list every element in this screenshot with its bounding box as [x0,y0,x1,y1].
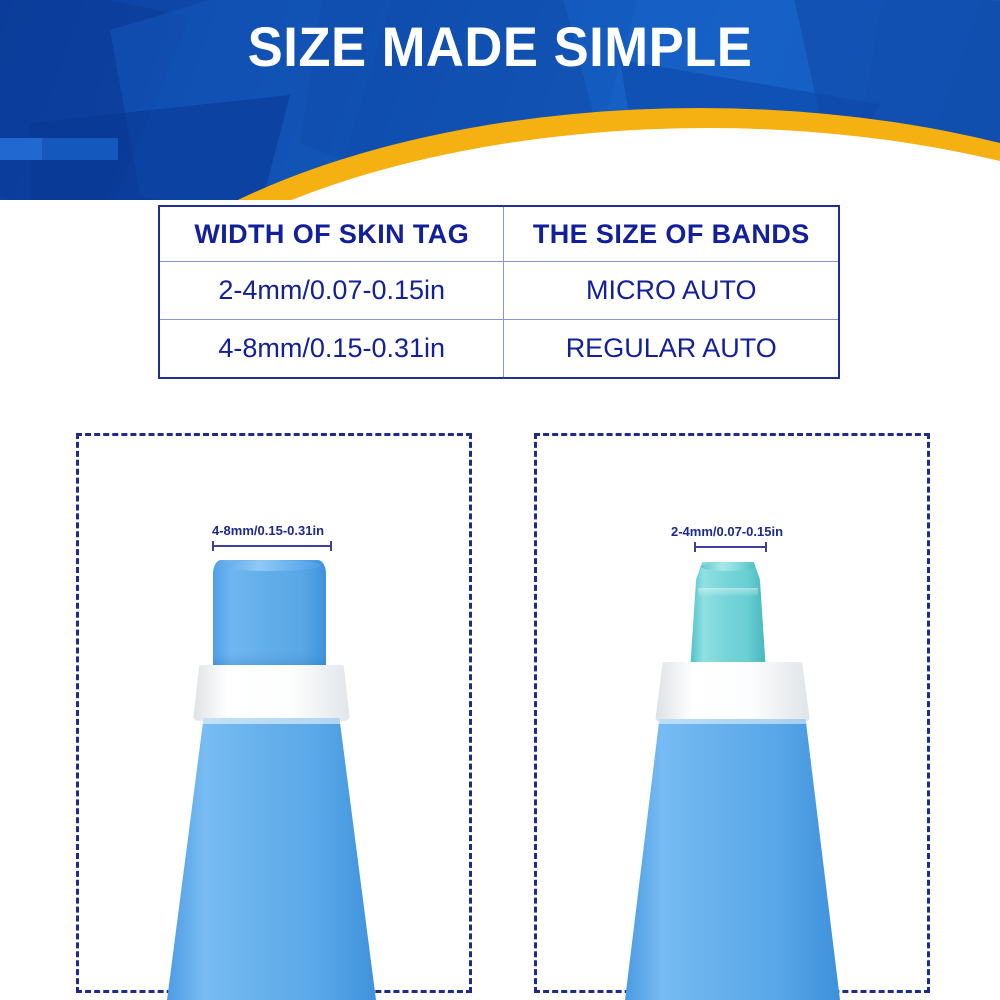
device-collar-micro [655,662,810,722]
device-collar-regular [193,665,350,721]
dimension-label-micro: 2-4mm/0.07-0.15in [671,524,783,539]
column-header-width: WIDTH OF SKIN TAG [159,206,504,262]
dimension-line-regular [212,541,332,551]
size-chart-table: WIDTH OF SKIN TAG THE SIZE OF BANDS 2-4m… [158,205,840,379]
cell-width-regular: 4-8mm/0.15-0.31in [159,320,504,379]
column-header-band: THE SIZE OF BANDS [504,206,839,262]
cell-band-regular: REGULAR AUTO [504,320,839,379]
table-header-row: WIDTH OF SKIN TAG THE SIZE OF BANDS [159,206,839,262]
table-row: 2-4mm/0.07-0.15in MICRO AUTO [159,262,839,320]
table-row: 4-8mm/0.15-0.31in REGULAR AUTO [159,320,839,379]
device-body-micro [625,719,840,1000]
dimension-line-micro [694,542,767,552]
header-banner: SIZE MADE SIMPLE [0,0,1000,200]
cell-width-micro: 2-4mm/0.07-0.15in [159,262,504,320]
device-tip-micro [690,562,766,672]
device-body-regular [167,718,376,1000]
header-accent-bar-inner [0,138,42,160]
cell-band-micro: MICRO AUTO [504,262,839,320]
device-tip-regular [213,560,326,672]
page-title: SIZE MADE SIMPLE [30,14,970,79]
dimension-label-regular: 4-8mm/0.15-0.31in [212,523,324,538]
